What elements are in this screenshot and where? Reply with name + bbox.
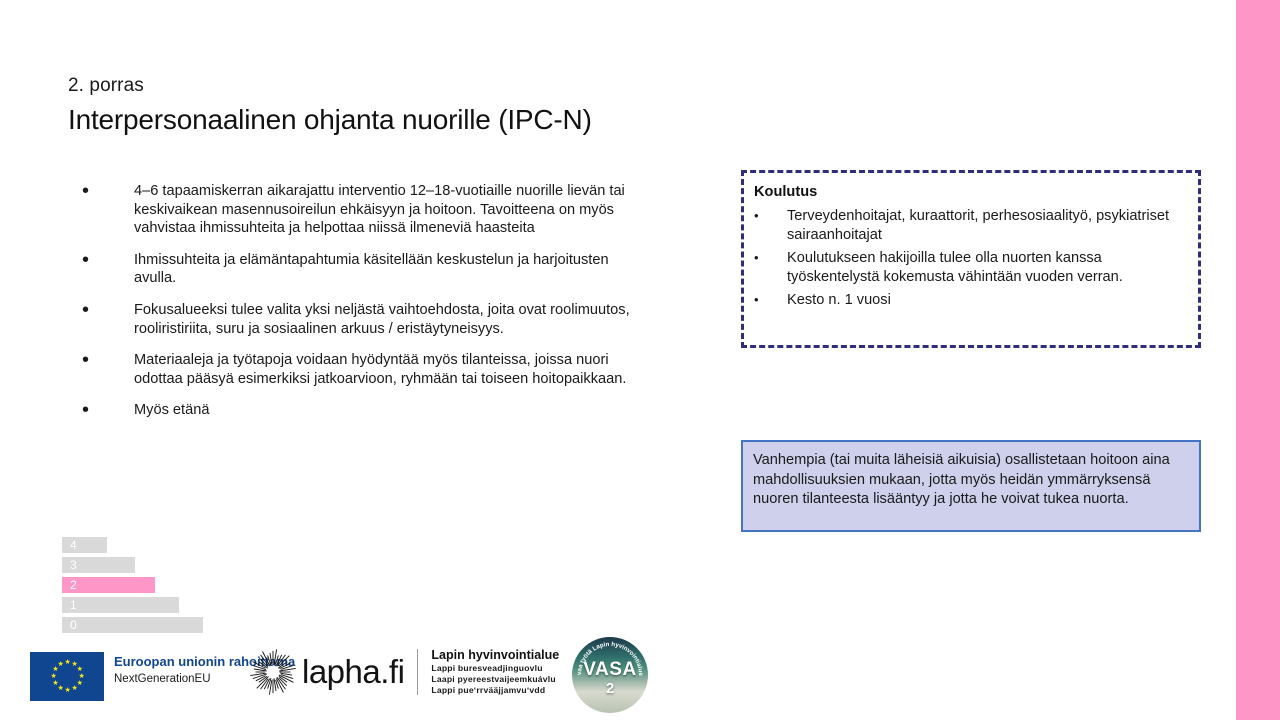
step-bar-label: 0 bbox=[70, 617, 77, 633]
lapha-logo: lapha.fi Lapin hyvinvointialue Lappi bur… bbox=[250, 648, 559, 696]
list-item-text: Myös etänä bbox=[98, 401, 650, 420]
list-item-text: Materiaaleja ja työtapoja voidaan hyödyn… bbox=[98, 351, 650, 388]
lapha-name-sub3: Lappi pueʻrrvääjjamvuʻvdd bbox=[431, 685, 559, 696]
lapha-wordmark: lapha.fi bbox=[296, 654, 404, 690]
step-bar-2[interactable]: 2 bbox=[62, 577, 155, 593]
eu-star-icon: ★ bbox=[77, 667, 82, 672]
step-bar-1[interactable]: 1 bbox=[62, 597, 179, 613]
list-item: •Fokusalueeksi tulee valita yksi neljäst… bbox=[82, 301, 650, 338]
bullet-icon: • bbox=[82, 301, 98, 320]
slide-eyebrow: 2. porras bbox=[68, 74, 888, 98]
decorative-pink-stripe bbox=[1236, 0, 1280, 720]
koulutus-list: •Terveydenhoitajat, kuraattorit, perheso… bbox=[754, 207, 1184, 310]
list-item-text: Koulutukseen hakijoilla tulee olla nuort… bbox=[764, 249, 1184, 286]
sunburst-icon bbox=[250, 649, 296, 695]
koulutus-heading: Koulutus bbox=[754, 182, 1184, 202]
step-bar-label: 3 bbox=[70, 557, 77, 573]
eu-star-icon: ★ bbox=[65, 688, 70, 693]
eu-flag-icon: ★★★★★★★★★★★★ bbox=[30, 652, 104, 701]
lapha-name-main: Lapin hyvinvointialue bbox=[431, 648, 559, 663]
step-bar-label: 2 bbox=[70, 577, 77, 593]
vasa-title: VASA bbox=[572, 660, 648, 680]
eu-star-icon: ★ bbox=[51, 674, 56, 679]
lapha-name-sub1: Lappi buresveadjinguovlu bbox=[431, 663, 559, 674]
list-item: •Myös etänä bbox=[82, 401, 650, 420]
bullet-icon: • bbox=[82, 351, 98, 370]
step-bar-4[interactable]: 4 bbox=[62, 537, 107, 553]
vasa-center-label: VASA 2 bbox=[572, 660, 648, 697]
bullet-icon: • bbox=[754, 207, 764, 226]
koulutus-box: Koulutus •Terveydenhoitajat, kuraattorit… bbox=[741, 170, 1201, 348]
eu-star-icon: ★ bbox=[72, 686, 77, 691]
list-item-text: Fokusalueeksi tulee valita yksi neljästä… bbox=[98, 301, 650, 338]
vasa-number: 2 bbox=[572, 680, 648, 697]
left-bullet-list: • 4–6 tapaamiskerran aikarajattu interve… bbox=[82, 182, 650, 433]
list-item-text: Kesto n. 1 vuosi bbox=[764, 291, 1184, 310]
step-bar-label: 4 bbox=[70, 537, 77, 553]
bullet-icon: • bbox=[754, 249, 764, 268]
eu-star-icon: ★ bbox=[65, 660, 70, 665]
list-item: •Ihmissuhteita ja elämäntapahtumia käsit… bbox=[82, 251, 650, 288]
bullet-icon: • bbox=[82, 182, 98, 201]
step-bar-3[interactable]: 3 bbox=[62, 557, 135, 573]
bullet-icon: • bbox=[82, 251, 98, 270]
list-item-text: 4–6 tapaamiskerran aikarajattu intervent… bbox=[98, 182, 650, 238]
bullet-icon: • bbox=[82, 401, 98, 420]
list-item: •Materiaaleja ja työtapoja voidaan hyödy… bbox=[82, 351, 650, 388]
eu-star-icon: ★ bbox=[52, 681, 57, 686]
lapha-name-sub2: Laapi pyereestvaijeemkuávlu bbox=[431, 674, 559, 685]
note-box: Vanhempia (tai muita läheisiä aikuisia) … bbox=[741, 440, 1201, 532]
title-block: 2. porras Interpersonaalinen ohjanta nuo… bbox=[68, 74, 888, 138]
slide-canvas: 2. porras Interpersonaalinen ohjanta nuo… bbox=[0, 0, 1280, 720]
list-item: • 4–6 tapaamiskerran aikarajattu interve… bbox=[82, 182, 650, 238]
list-item: •Koulutukseen hakijoilla tulee olla nuor… bbox=[754, 249, 1184, 286]
vasa-badge-logo: Vahvaa työtä Lapin hyvinvointialueelle V… bbox=[572, 637, 648, 713]
page-title: Interpersonaalinen ohjanta nuorille (IPC… bbox=[68, 102, 888, 138]
lapha-names: Lapin hyvinvointialue Lappi buresveadjin… bbox=[431, 648, 559, 696]
list-item: •Kesto n. 1 vuosi bbox=[754, 291, 1184, 310]
list-item-text: Ihmissuhteita ja elämäntapahtumia käsite… bbox=[98, 251, 650, 288]
eu-star-icon: ★ bbox=[58, 662, 63, 667]
logo-divider bbox=[417, 649, 418, 695]
list-item-text: Terveydenhoitajat, kuraattorit, perhesos… bbox=[764, 207, 1184, 244]
list-item: •Terveydenhoitajat, kuraattorit, perheso… bbox=[754, 207, 1184, 244]
step-bar-label: 1 bbox=[70, 597, 77, 613]
bullet-icon: • bbox=[754, 291, 764, 310]
step-bar-0[interactable]: 0 bbox=[62, 617, 203, 633]
note-box-text: Vanhempia (tai muita läheisiä aikuisia) … bbox=[743, 442, 1199, 510]
step-indicator: 43210 bbox=[62, 537, 203, 637]
eu-star-icon: ★ bbox=[52, 667, 57, 672]
eu-star-icon: ★ bbox=[79, 674, 84, 679]
